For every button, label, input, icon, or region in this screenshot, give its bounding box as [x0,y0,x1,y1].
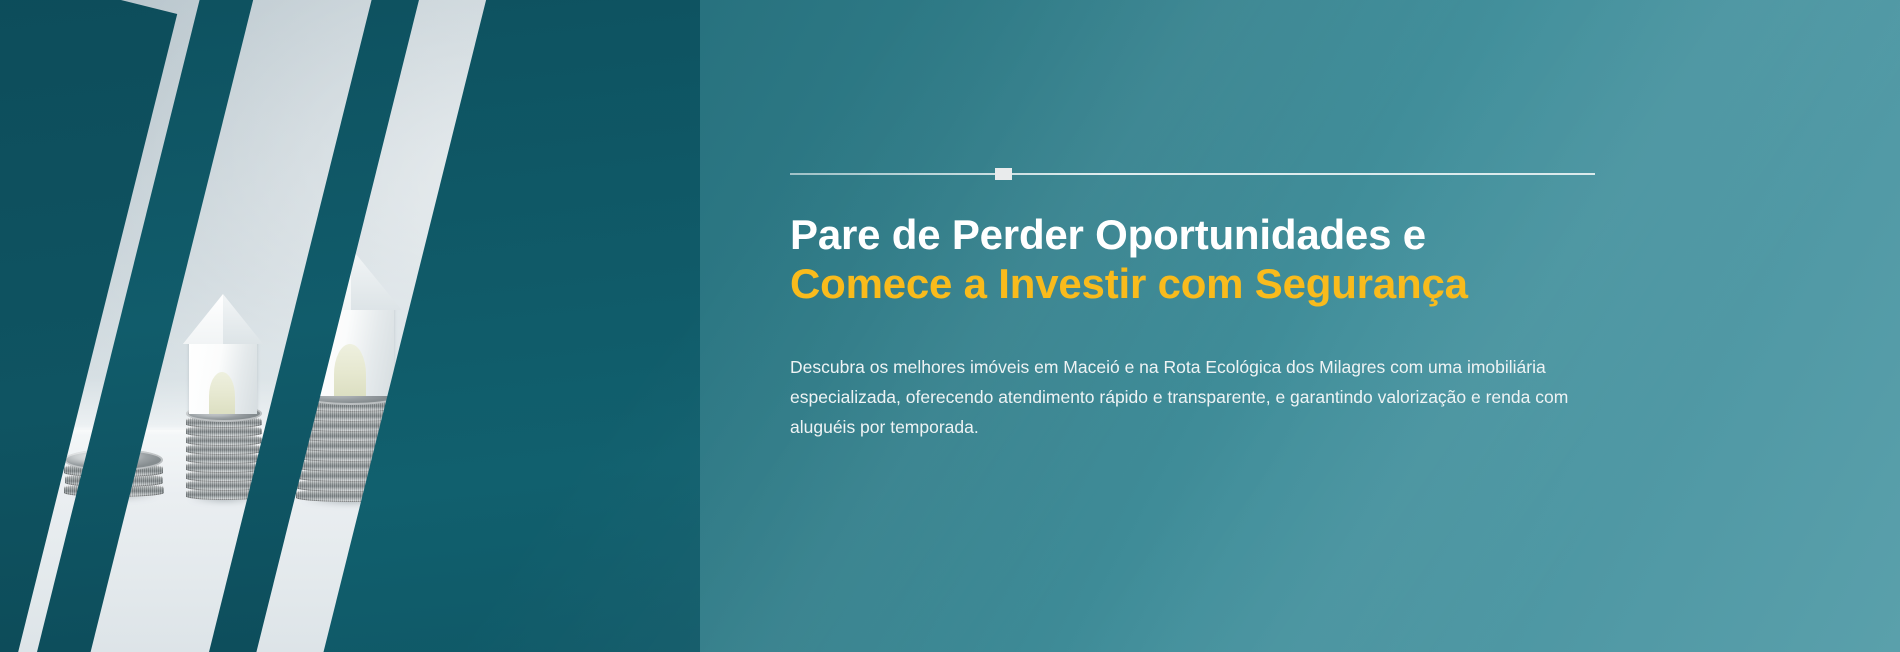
hero-image [0,0,700,652]
headline-line-2: Comece a Investir com Segurança [790,259,1610,308]
hero-banner: Pare de Perder Oportunidades e Comece a … [0,0,1900,652]
page-title: Pare de Perder Oportunidades e Comece a … [790,210,1610,308]
section-divider [790,172,1595,176]
hero-paragraph: Descubra os melhores imóveis em Maceió e… [790,352,1595,442]
roof-left-plane [183,294,223,344]
paper-house-1 [189,294,257,414]
roof-right-plane [351,248,402,310]
house-door [209,372,235,414]
divider-knob-icon [995,168,1012,180]
hero-content: Pare de Perder Oportunidades e Comece a … [790,0,1610,652]
house-door [334,344,366,396]
divider-rule [790,173,1595,175]
roof-right-plane [223,294,263,344]
house-roof [183,294,263,344]
headline-line-1: Pare de Perder Oportunidades e [790,210,1610,259]
